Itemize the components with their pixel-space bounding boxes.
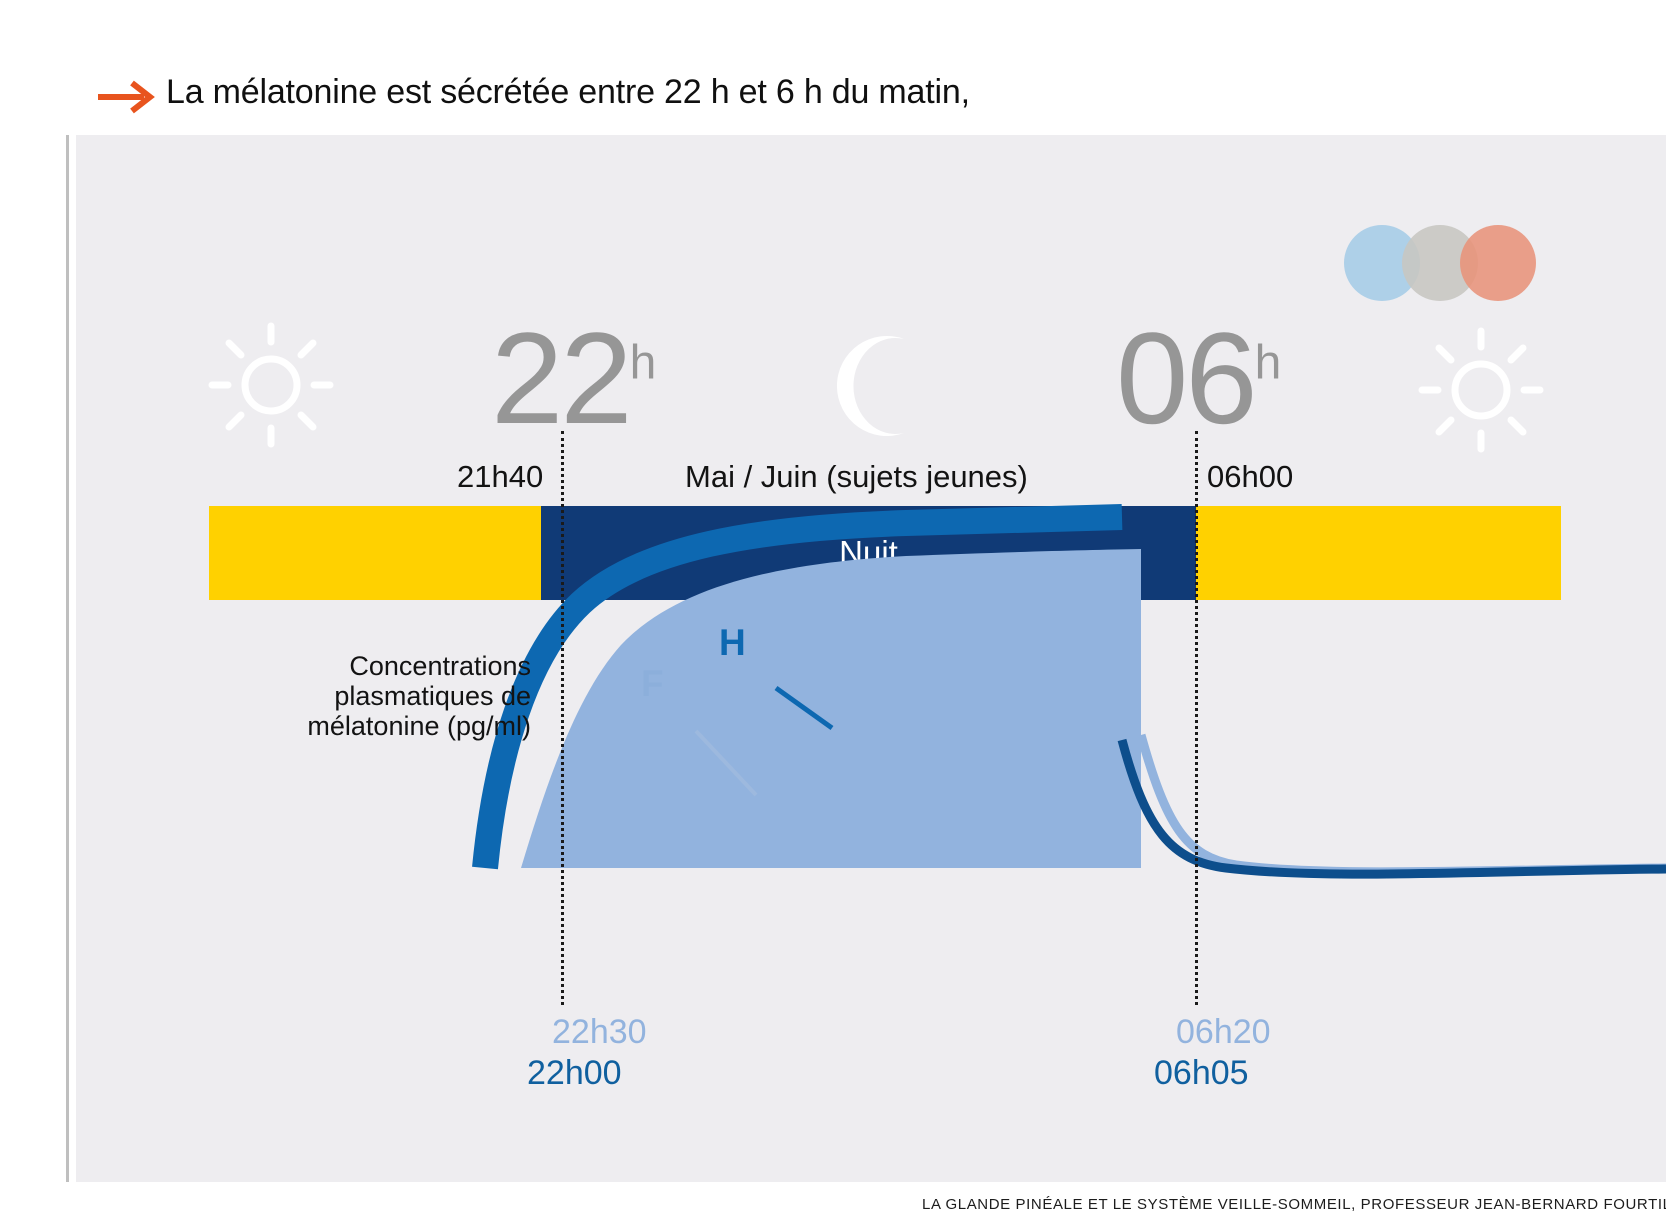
annotation-H-onset: 22h00 xyxy=(527,1054,622,1093)
annotation-F-offset: 06h20 xyxy=(1176,1013,1271,1052)
guide-line-22h xyxy=(561,431,564,1005)
annotation-H-offset: 06h05 xyxy=(1154,1054,1249,1093)
page-title: La mélatonine est sécrétée entre 22 h et… xyxy=(166,73,970,112)
arrow-right-icon xyxy=(96,78,158,116)
left-vertical-rule xyxy=(66,0,69,1182)
series-label-H: H xyxy=(719,622,746,664)
series-F-tail xyxy=(1141,735,1666,872)
annotation-F-onset: 22h30 xyxy=(552,1013,647,1052)
slide-header: La mélatonine est sécrétée entre 22 h et… xyxy=(0,0,1666,135)
series-F-area xyxy=(521,549,1141,868)
footer-credit: LA GLANDE PINÉALE ET LE SYSTÈME VEILLE-S… xyxy=(922,1196,1666,1213)
main-panel: 22h 06h 21h40 Mai / Juin (sujets xyxy=(76,135,1666,1182)
footer-credit-text: LA GLANDE PINÉALE ET LE SYSTÈME VEILLE-S… xyxy=(922,1196,1666,1213)
series-label-F: F xyxy=(641,663,664,705)
guide-line-06h xyxy=(1195,431,1198,1005)
y-axis-caption: Concentrations plasmatiques de mélatonin… xyxy=(291,651,531,741)
